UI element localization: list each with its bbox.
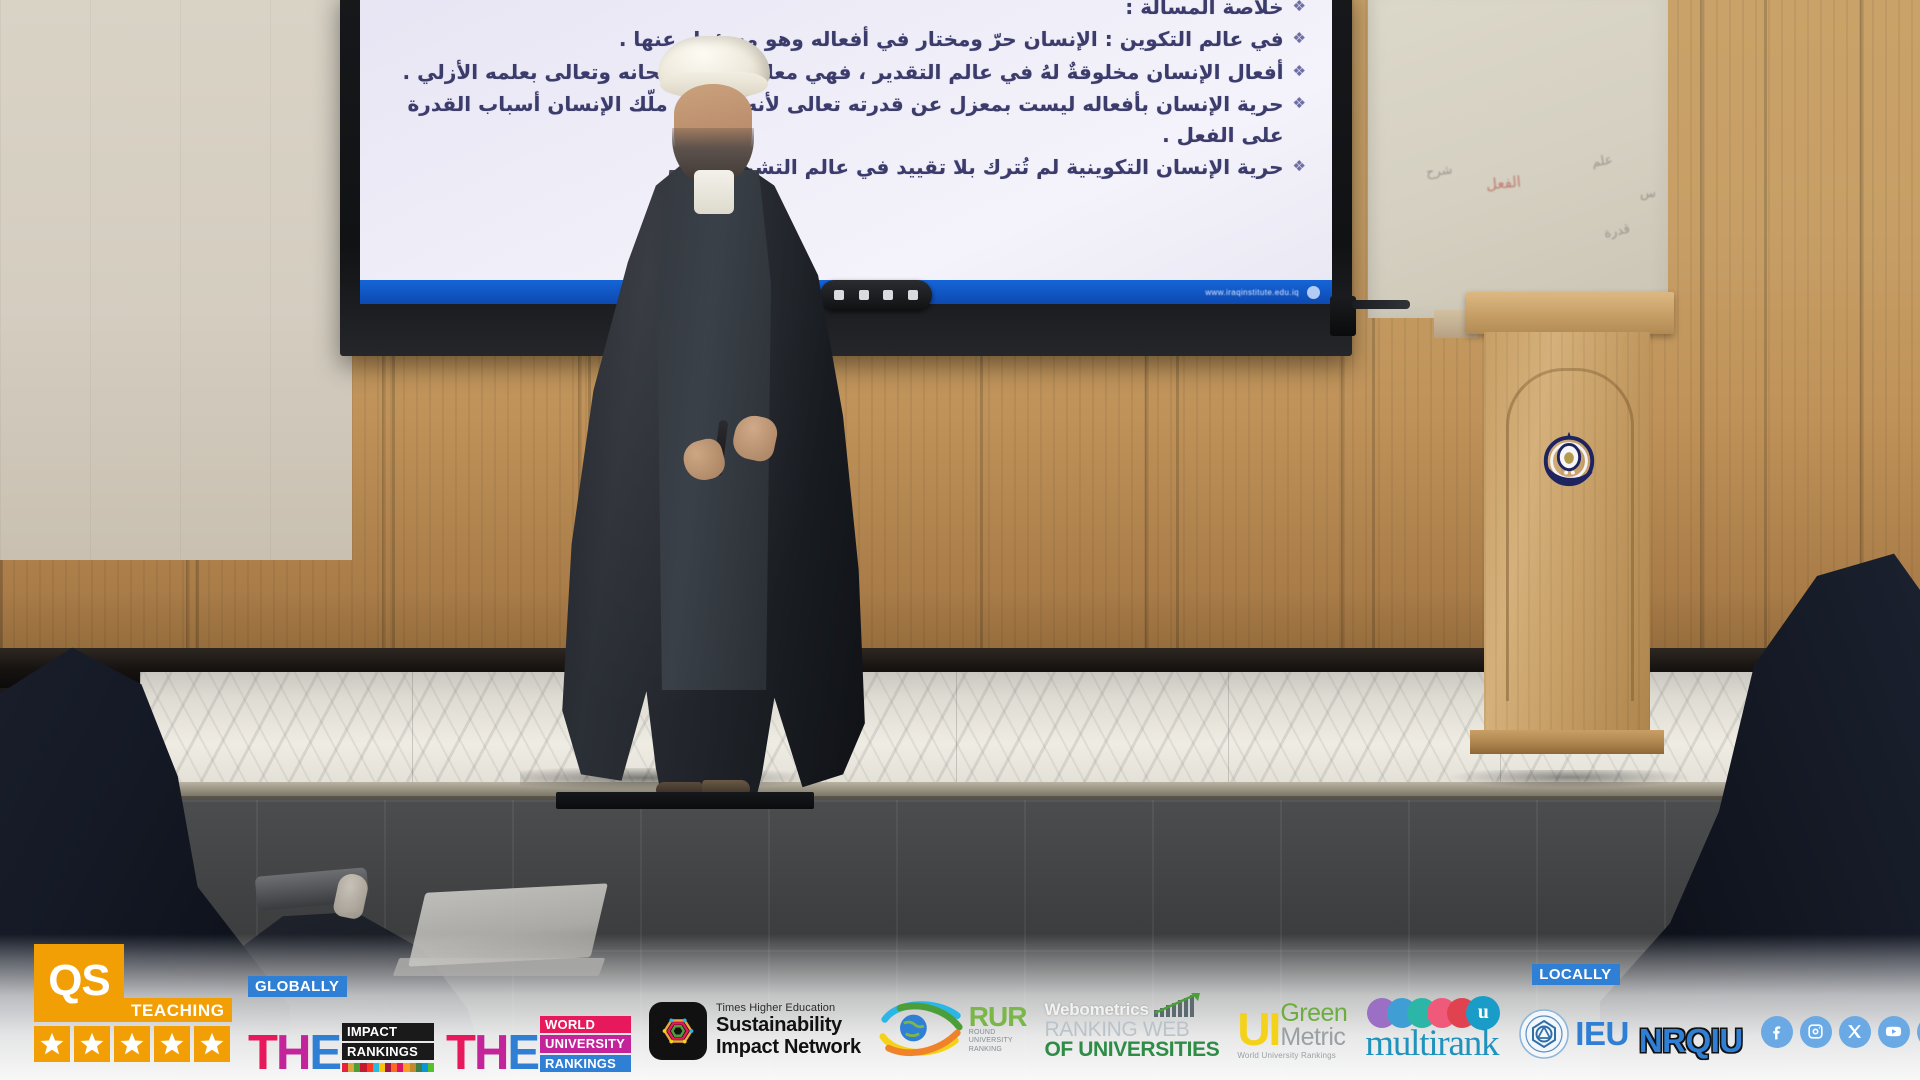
- ieu-logo: IEU: [1518, 1008, 1629, 1060]
- webometrics-line2: OF UNIVERSITIES: [1044, 1039, 1219, 1060]
- locally-label: LOCALLY: [1532, 964, 1619, 985]
- ieu-seal-icon: [1518, 1008, 1570, 1060]
- facebook-icon[interactable]: [1761, 1016, 1793, 1048]
- bullet-diamond-icon: ❖: [1293, 89, 1306, 118]
- multirank-wordmark: multirank: [1365, 1027, 1500, 1060]
- rur-sub-university: UNIVERSITY: [969, 1037, 1027, 1045]
- stage-cable-cover: [556, 792, 814, 809]
- the-world-tags: WORLD UNIVERSITY RANKINGS: [540, 1016, 631, 1074]
- qs-stars-rating-logo: QS TEACHING: [20, 942, 230, 1074]
- branding-overlay-bar: QS TEACHING GLOBALLY THE IMPACT RANKINGS: [0, 934, 1920, 1080]
- sustainability-impact-network-logo: Times Higher Education Sustainability Im…: [649, 1002, 861, 1074]
- whiteboard: شرح الفعل علم قدرة س: [1368, 0, 1668, 318]
- whiteboard-mark-red: الفعل: [1485, 173, 1521, 194]
- podium: [1466, 292, 1674, 782]
- display-mount-arm: [1352, 300, 1410, 309]
- display-menu-button[interactable]: [908, 290, 918, 300]
- webometrics-line1: RANKING WEB: [1044, 1019, 1219, 1040]
- display-volume-button[interactable]: [883, 290, 893, 300]
- the-tag-impact: IMPACT: [342, 1023, 434, 1040]
- social-links-group: alkafeeleduiq: [1761, 1009, 1920, 1074]
- bullet-diamond-icon: ❖: [1293, 0, 1306, 21]
- the-impact-tags: IMPACT RANKINGS: [342, 1023, 434, 1074]
- the-impact-rankings-logo: THE IMPACT RANKINGS: [248, 1016, 434, 1074]
- podium-arch-inset: [1506, 368, 1634, 701]
- whiteboard-mark: قدرة: [1603, 221, 1632, 241]
- qs-wordmark: QS: [48, 959, 110, 1003]
- the-wordmark: THE: [446, 1032, 538, 1074]
- podium-base: [1470, 730, 1664, 754]
- whiteboard-mark: س: [1640, 186, 1656, 201]
- webometrics-top-row: Webometrics: [1044, 992, 1219, 1018]
- instagram-icon[interactable]: [1800, 1016, 1832, 1048]
- star-icon: [34, 1026, 70, 1062]
- rur-sub-ranking: RANKING: [969, 1046, 1027, 1054]
- slide-footer-url: www.iraqinstitute.edu.iq: [1205, 288, 1299, 297]
- star-icon: [74, 1026, 110, 1062]
- speaker-presenter: [556, 20, 868, 810]
- alkafeel-emblem-icon: [1538, 428, 1600, 490]
- u-multirank-logo: u multirank: [1365, 997, 1500, 1074]
- growth-chart-icon: [1153, 992, 1205, 1018]
- ui-greenmetric-row: UI Green Metric: [1237, 1002, 1347, 1049]
- the-world-university-rankings-logo: THE WORLD UNIVERSITY RANKINGS: [446, 1016, 631, 1074]
- qs-category-label: TEACHING: [124, 998, 232, 1022]
- screenshot-canvas: شرح الفعل علم قدرة س ❖ خلاصة المسألة : ❖…: [0, 0, 1920, 1080]
- left-wall-texture: [0, 0, 352, 560]
- podium-desktop: [1466, 292, 1674, 334]
- rur-text: RUR ROUND UNIVERSITY RANKING: [969, 1004, 1027, 1054]
- bullet-diamond-icon: ❖: [1293, 152, 1306, 181]
- qs-star-row: [34, 1026, 230, 1062]
- ieu-wordmark: IEU: [1575, 1015, 1629, 1053]
- rur-rankings-logo: RUR ROUND UNIVERSITY RANKING: [879, 998, 1027, 1074]
- greenmetric-subtitle: World University Rankings: [1237, 1051, 1347, 1060]
- the-tag-world: WORLD: [540, 1016, 631, 1033]
- nrqiu-wordmark: NRQIU: [1639, 1022, 1743, 1060]
- hexagon-network-icon: [649, 1002, 707, 1060]
- star-icon: [114, 1026, 150, 1062]
- the-tag-rankings: RANKINGS: [342, 1043, 434, 1060]
- greenmetric-word-metric: Metric: [1280, 1026, 1347, 1050]
- the-tag-rankings: RANKINGS: [540, 1055, 631, 1072]
- bullet-diamond-icon: ❖: [1293, 57, 1306, 86]
- the-tag-university: UNIVERSITY: [540, 1035, 631, 1052]
- speaker-collar: [694, 170, 734, 214]
- whiteboard-mark: علم: [1591, 152, 1614, 170]
- sustainability-line2: Impact Network: [716, 1037, 861, 1059]
- globally-label: GLOBALLY: [248, 976, 347, 997]
- qs-logo-tile: QS: [34, 944, 124, 1022]
- bullet-diamond-icon: ❖: [1293, 24, 1306, 53]
- globe-swoosh-icon: [879, 998, 965, 1060]
- sustainability-line1: Sustainability: [716, 1015, 861, 1037]
- ui-mark: UI: [1237, 1011, 1279, 1049]
- youtube-icon[interactable]: [1878, 1016, 1910, 1048]
- sustainability-text: Times Higher Education Sustainability Im…: [716, 1003, 861, 1058]
- ui-greenmetric-logo: UI Green Metric World University Ranking…: [1237, 1002, 1347, 1074]
- webometrics-wordmark: Webometrics: [1044, 1001, 1148, 1018]
- slide-footer-badge-icon: [1307, 286, 1320, 299]
- rur-wordmark: RUR: [969, 1004, 1027, 1029]
- star-icon: [154, 1026, 190, 1062]
- x-twitter-icon[interactable]: [1839, 1016, 1871, 1048]
- rur-sub-round: ROUND: [969, 1029, 1027, 1037]
- whiteboard-mark: شرح: [1425, 162, 1453, 180]
- dribbble-icon[interactable]: [1917, 1016, 1920, 1048]
- wall-seam: [1700, 0, 1704, 672]
- local-rankings-group: LOCALLY IEU NRQIU: [1518, 928, 1742, 1074]
- the-rankings-group: GLOBALLY THE IMPACT RANKINGS: [248, 942, 631, 1074]
- webometrics-logo: Webometrics RANKING WEB OF UN: [1044, 992, 1219, 1074]
- greenmetric-words: Green Metric: [1280, 1002, 1347, 1049]
- sdg-color-strip: [342, 1063, 434, 1072]
- star-icon: [194, 1026, 230, 1062]
- the-wordmark: THE: [248, 1032, 340, 1074]
- greenmetric-word-green: Green: [1280, 1002, 1347, 1026]
